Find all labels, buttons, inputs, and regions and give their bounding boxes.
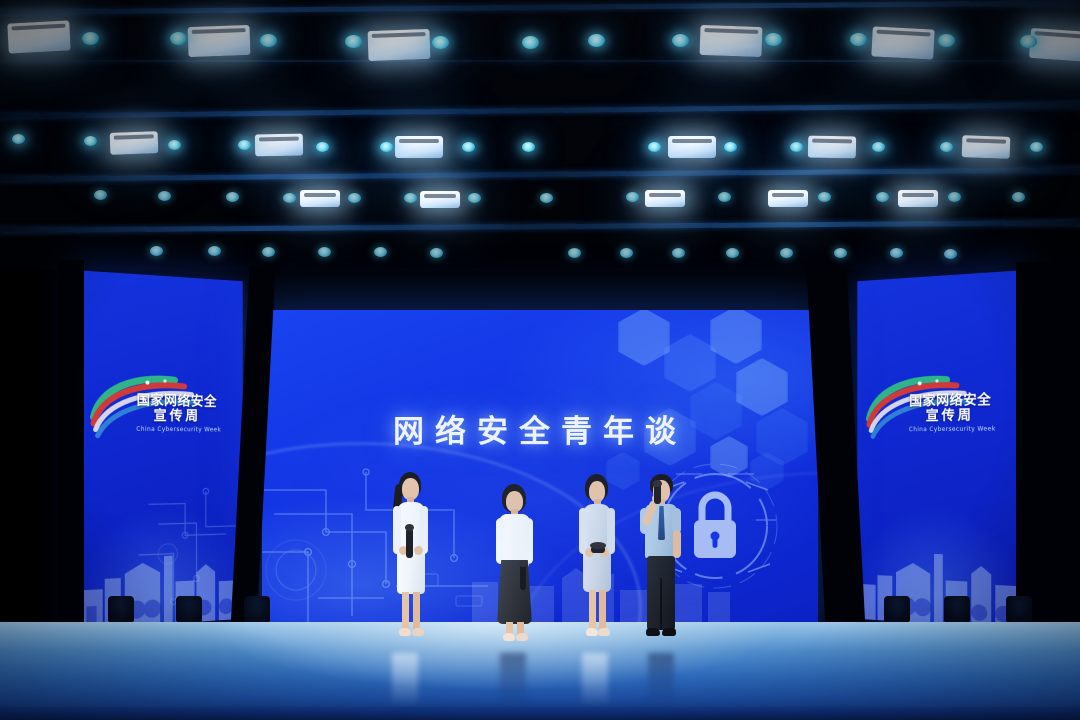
spot-light-icon bbox=[345, 35, 362, 48]
shoe-left bbox=[399, 628, 411, 636]
spot-light-icon bbox=[380, 142, 393, 152]
spot-light-icon bbox=[938, 34, 955, 47]
spot-light-icon bbox=[150, 246, 163, 256]
wash-light-icon bbox=[699, 25, 762, 57]
screen-bezel-far-right bbox=[1016, 262, 1080, 632]
wash-light-icon bbox=[255, 134, 303, 157]
spot-light-icon bbox=[316, 142, 329, 152]
spot-light-icon bbox=[84, 136, 97, 146]
spot-light-icon bbox=[82, 32, 99, 45]
trouser-seam bbox=[660, 578, 662, 630]
spot-light-icon bbox=[568, 248, 581, 258]
microphone-icon bbox=[520, 564, 526, 590]
spot-light-icon bbox=[834, 248, 847, 258]
spot-light-icon bbox=[262, 247, 275, 257]
logo-chinese-text: 国家网络安全 宣传周 bbox=[126, 393, 227, 424]
arm-right bbox=[524, 518, 533, 564]
floor-reflection bbox=[648, 653, 674, 707]
spot-light-icon bbox=[780, 248, 793, 258]
spot-light-icon bbox=[588, 34, 605, 47]
wash-light-icon bbox=[768, 190, 808, 207]
microphone-icon bbox=[654, 484, 661, 504]
floor-light-icon bbox=[244, 596, 270, 622]
spot-light-icon bbox=[672, 34, 689, 47]
wash-light-icon bbox=[898, 190, 938, 207]
spot-light-icon bbox=[12, 134, 25, 144]
spot-light-icon bbox=[876, 192, 889, 202]
shoe-right bbox=[598, 628, 610, 636]
logo-chinese-text: 国家网络安全 宣传周 bbox=[899, 393, 1002, 425]
spot-light-icon bbox=[432, 36, 449, 49]
wash-light-icon bbox=[110, 131, 159, 155]
spot-light-icon bbox=[726, 248, 739, 258]
skirt bbox=[497, 560, 532, 624]
truss-bar-4 bbox=[0, 220, 1080, 233]
spot-light-icon bbox=[318, 247, 331, 257]
microphone-icon bbox=[591, 546, 605, 553]
spot-light-icon bbox=[626, 192, 639, 202]
leg-right bbox=[413, 592, 420, 630]
spot-light-icon bbox=[890, 248, 903, 258]
spot-light-icon bbox=[158, 191, 171, 201]
spot-light-icon bbox=[765, 33, 782, 46]
wash-light-icon bbox=[808, 136, 856, 159]
leg-right bbox=[599, 590, 606, 630]
truss-bar-aux bbox=[0, 60, 1080, 62]
cybersecurity-week-logo-left: 国家网络安全 宣传周 China Cybersecurity Week bbox=[89, 370, 234, 448]
shoe-right bbox=[516, 633, 528, 641]
arm-left bbox=[496, 518, 505, 564]
floor-light-icon bbox=[884, 596, 910, 622]
wash-light-icon bbox=[645, 190, 685, 207]
forearm-right bbox=[673, 530, 681, 558]
spot-light-icon bbox=[238, 140, 251, 150]
spot-light-icon bbox=[522, 36, 539, 49]
spot-light-icon bbox=[404, 193, 417, 203]
spot-light-icon bbox=[94, 190, 107, 200]
side-screen-left: 国家网络安全 宣传周 China Cybersecurity Week bbox=[80, 270, 242, 629]
spot-light-icon bbox=[348, 193, 361, 203]
performer-guest-one bbox=[488, 482, 540, 642]
logo-english-text: China Cybersecurity Week bbox=[899, 425, 1007, 433]
leg-left bbox=[402, 592, 409, 630]
performer-host bbox=[384, 472, 436, 642]
leg-left bbox=[589, 590, 596, 630]
main-screen-headline: 网络安全青年谈 bbox=[262, 406, 818, 451]
floor-light-icon bbox=[176, 596, 202, 622]
truss-bar-3 bbox=[0, 167, 1080, 182]
spot-light-icon bbox=[872, 142, 885, 152]
spot-light-icon bbox=[620, 248, 633, 258]
spot-light-icon bbox=[648, 142, 661, 152]
hand-right bbox=[414, 546, 423, 555]
spot-light-icon bbox=[718, 192, 731, 202]
logo-line-2: 宣传周 bbox=[126, 408, 227, 424]
spot-light-icon bbox=[226, 192, 239, 202]
spot-light-icon bbox=[1020, 35, 1037, 48]
spot-light-icon bbox=[462, 142, 475, 152]
spot-light-icon bbox=[430, 248, 443, 258]
stage-floor bbox=[0, 622, 1080, 720]
city-skyline-graphic bbox=[857, 526, 1019, 630]
stage-scene: 国家网络安全 宣传周 China Cybersecurity Week bbox=[0, 0, 1080, 720]
spot-light-icon bbox=[168, 140, 181, 150]
wash-light-icon bbox=[962, 135, 1011, 159]
spot-light-icon bbox=[850, 33, 867, 46]
lighting-rig bbox=[0, 0, 1080, 270]
spot-light-icon bbox=[260, 34, 277, 47]
cybersecurity-week-logo-right: 国家网络安全 宣传周 China Cybersecurity Week bbox=[866, 370, 1011, 448]
shoe-right bbox=[412, 628, 424, 636]
spot-light-icon bbox=[790, 142, 803, 152]
wash-light-icon bbox=[300, 190, 340, 207]
floor-light-icon bbox=[1006, 596, 1032, 622]
screen-bezel-far-left bbox=[58, 260, 84, 632]
wash-light-icon bbox=[187, 25, 250, 57]
spot-light-icon bbox=[724, 142, 737, 152]
performer-guest-three bbox=[634, 474, 688, 642]
shoe-left bbox=[503, 633, 515, 641]
spot-light-icon bbox=[818, 192, 831, 202]
wash-light-icon bbox=[395, 136, 443, 158]
spot-light-icon bbox=[1030, 142, 1043, 152]
arm-left bbox=[579, 508, 587, 554]
spot-light-icon bbox=[944, 249, 957, 259]
main-led-screen: 网络安全青年谈 bbox=[262, 310, 818, 622]
spot-light-icon bbox=[1012, 192, 1025, 202]
floor-light-icon bbox=[108, 596, 134, 622]
wash-light-icon bbox=[668, 136, 716, 158]
spot-light-icon bbox=[283, 193, 296, 203]
spot-light-icon bbox=[948, 192, 961, 202]
microphone-icon bbox=[406, 528, 413, 558]
wash-light-icon bbox=[367, 29, 430, 61]
spot-light-icon bbox=[540, 193, 553, 203]
performer-guest-two bbox=[570, 474, 622, 642]
floor-reflection bbox=[582, 653, 608, 707]
side-screen-right: 国家网络安全 宣传周 China Cybersecurity Week bbox=[857, 270, 1019, 629]
logo-english-text: China Cybersecurity Week bbox=[126, 426, 231, 434]
wash-light-icon bbox=[7, 20, 70, 53]
shoe-left bbox=[646, 628, 660, 636]
floor-reflection bbox=[500, 653, 526, 707]
spot-light-icon bbox=[170, 32, 187, 45]
spot-light-icon bbox=[672, 248, 685, 258]
logo-line-2: 宣传周 bbox=[899, 408, 1002, 424]
spot-light-icon bbox=[468, 193, 481, 203]
floor-reflection bbox=[392, 653, 418, 707]
shoe-left bbox=[586, 628, 598, 636]
floor-light-icon bbox=[944, 596, 970, 622]
spot-light-icon bbox=[374, 247, 387, 257]
wash-light-icon bbox=[1029, 28, 1080, 62]
spot-light-icon bbox=[940, 142, 953, 152]
arm-right bbox=[607, 508, 615, 554]
truss-bar-1 bbox=[0, 0, 1080, 15]
wash-light-icon bbox=[871, 26, 934, 59]
truss-bar-2 bbox=[0, 102, 1080, 119]
shoe-right bbox=[662, 628, 676, 636]
stage-front-edge bbox=[0, 707, 1080, 720]
spot-light-icon bbox=[208, 246, 221, 256]
wash-light-icon bbox=[420, 191, 460, 208]
spot-light-icon bbox=[522, 142, 535, 152]
